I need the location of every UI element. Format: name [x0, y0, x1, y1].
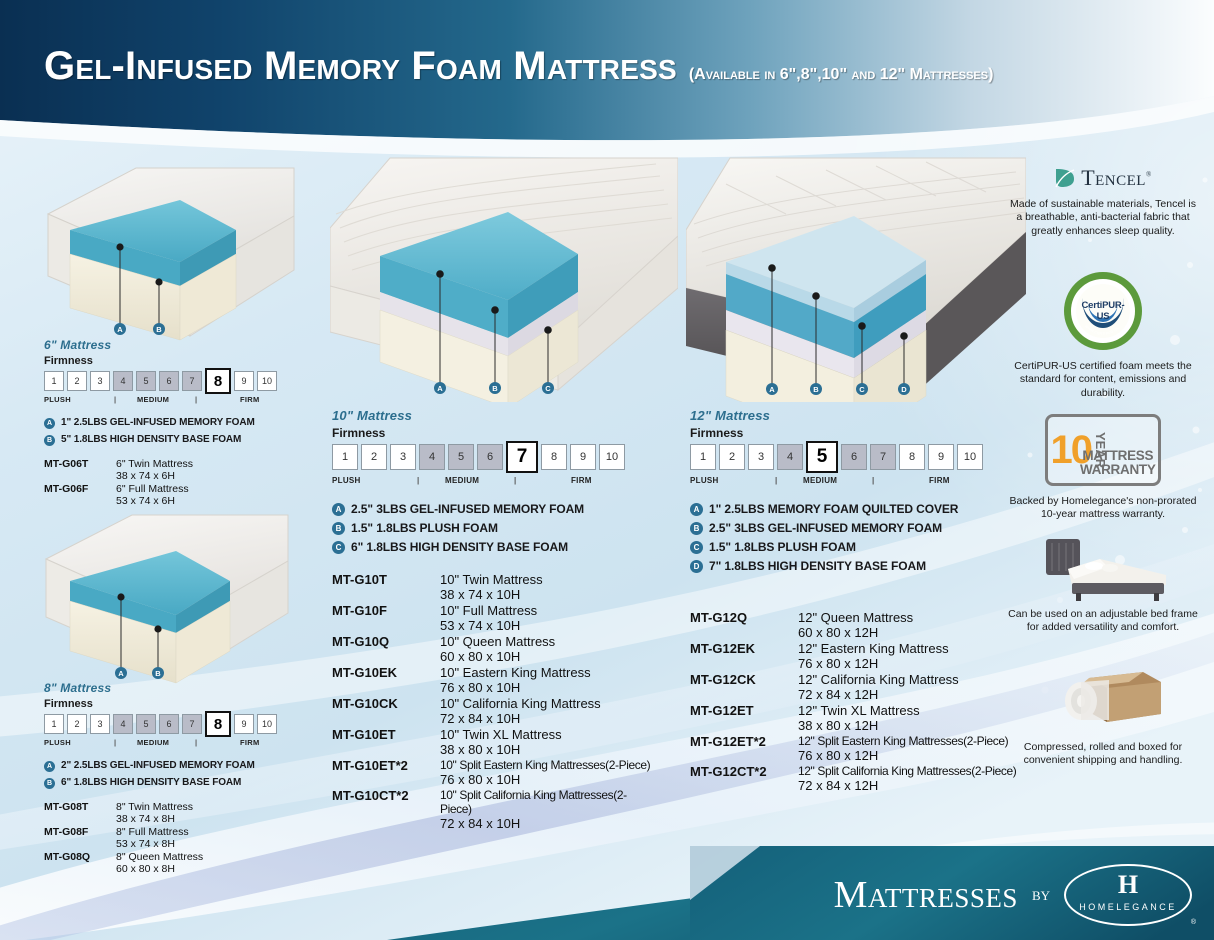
sku-row: MT-G10ET*210" Split Eastern King Mattres…	[332, 758, 652, 787]
page-title-main: Gel-Infused Memory Foam Mattress	[44, 44, 677, 88]
sku-dimensions: 53 x 74 x 10H	[440, 618, 537, 633]
sku-code: MT-G06F	[44, 483, 116, 495]
layer-row: C1.5" 1.8LBS PLUSH FOAM	[690, 540, 1010, 554]
sku-dimensions: 60 x 80 x 10H	[440, 649, 555, 664]
warranty-badge: 10 YEAR MATTRESS WARRANTY	[1045, 414, 1161, 486]
layer-badge-c: C	[690, 541, 703, 554]
sku-row: MT-G10T10" Twin Mattress38 x 74 x 10H	[332, 572, 652, 602]
sku-detail: 12" Split California King Mattresses(2-P…	[798, 764, 1016, 793]
sku-description: 12" Queen Mattress	[798, 610, 913, 625]
firmness-scale-12in[interactable]: 12345678910	[690, 444, 1010, 473]
certipur-badge: CertiPUR-US SUSTAINABLE CERTIFIED FLEXIB…	[1064, 272, 1142, 350]
callout-letter-b-6in: B	[153, 323, 165, 335]
spec-sheet-page: Gel-Infused Memory Foam Mattress(Availab…	[0, 0, 1214, 940]
layer-list-12in: A1" 2.5LBS MEMORY FOAM QUILTED COVERB2.5…	[690, 502, 1010, 573]
certipur-block: CertiPUR-US SUSTAINABLE CERTIFIED FLEXIB…	[1008, 272, 1198, 400]
sku-row: MT-G10ET10" Twin XL Mattress38 x 80 x 10…	[332, 727, 652, 757]
svg-text:WWW.CERTIPUR.US: WWW.CERTIPUR.US	[1084, 324, 1120, 336]
layer-text: 1.5" 1.8LBS PLUSH FOAM	[709, 540, 856, 554]
sku-dimensions: 72 x 84 x 12H	[798, 687, 959, 702]
sku-code: MT-G10CK	[332, 696, 440, 711]
firmness-cell-1[interactable]: 1	[44, 371, 64, 391]
sku-description: 10" Eastern King Mattress	[440, 665, 591, 680]
firmness-scale-8in[interactable]: 12345678910	[44, 714, 294, 737]
firmness-label-12in: Firmness	[690, 426, 1010, 440]
footer-by-word: by	[1032, 884, 1050, 906]
sku-dimensions: 38 x 80 x 12H	[798, 718, 920, 733]
firmness-cell-4[interactable]: 4	[777, 444, 803, 470]
sku-detail: 6" Full Mattress53 x 74 x 6H	[116, 483, 189, 507]
tencel-description: Made of sustainable materials, Tencel is…	[1008, 198, 1198, 238]
firmness-cell-2[interactable]: 2	[361, 444, 387, 470]
callout-letter-c-10in: C	[542, 382, 554, 394]
sku-description: 12" Eastern King Mattress	[798, 641, 949, 656]
callout-letter-a-10in: A	[434, 382, 446, 394]
firmness-scale-6in[interactable]: 12345678910	[44, 371, 294, 394]
certipur-ring-text: SUSTAINABLE CERTIFIED FLEXIBLE POLYURETH…	[1071, 279, 1135, 343]
tencel-wordmark: Tencel®	[1081, 165, 1152, 191]
firmness-label-6in: Firmness	[44, 355, 294, 367]
firmness-cell-2[interactable]: 2	[67, 371, 87, 391]
warranty-lines: MATTRESS WARRANTY	[1080, 449, 1156, 477]
sku-detail: 10" Twin Mattress38 x 74 x 10H	[440, 572, 543, 602]
homelegance-logo: H HOMELEGANCE ®	[1064, 864, 1192, 926]
homelegance-h-letter: H	[1118, 870, 1138, 900]
layer-row: B2.5" 3LBS GEL-INFUSED MEMORY FOAM	[690, 521, 1010, 535]
layer-row: B6" 1.8LBS HIGH DENSITY BASE FOAM	[44, 777, 294, 789]
firmness-cell-10[interactable]: 10	[257, 371, 277, 391]
layer-badge-b: B	[690, 522, 703, 535]
sku-detail: 12" Twin XL Mattress38 x 80 x 12H	[798, 703, 920, 733]
sku-detail: 6" Twin Mattress38 x 74 x 6H	[116, 458, 193, 482]
firmness-cell-3[interactable]: 3	[390, 444, 416, 470]
layer-row: D7" 1.8LBS HIGH DENSITY BASE FOAM	[690, 559, 1010, 573]
sku-description: 10" Twin XL Mattress	[440, 727, 562, 742]
firmness-cell-1[interactable]: 1	[690, 444, 716, 470]
warranty-block: 10 YEAR MATTRESS WARRANTY Backed by Home…	[1008, 414, 1198, 522]
layer-text: 2.5" 3LBS GEL-INFUSED MEMORY FOAM	[709, 521, 942, 535]
firmness-cell-5[interactable]: 5	[448, 444, 474, 470]
sku-dimensions: 38 x 74 x 6H	[116, 470, 193, 482]
firmness-cell-5[interactable]: 5	[806, 441, 838, 473]
firmness-cell-1[interactable]: 1	[44, 714, 64, 734]
layer-text: 6" 1.8LBS HIGH DENSITY BASE FOAM	[61, 777, 241, 788]
footer-brand: Mattresses by H HOMELEGANCE ®	[834, 864, 1192, 926]
adjustable-bed-image	[1028, 535, 1178, 601]
sku-dimensions: 60 x 80 x 12H	[798, 625, 913, 640]
svg-text:SUSTAINABLE CERTIFIED FLEXIB: SUSTAINABLE CERTIFIED FLEXIBLE POLYURETH…	[1071, 279, 1133, 310]
firmness-cell-7[interactable]: 7	[506, 441, 538, 473]
scale-medium-10in: MEDIUM	[445, 476, 479, 485]
sku-row: MT-G12EK12" Eastern King Mattress76 x 80…	[690, 641, 1020, 671]
firmness-cell-8[interactable]: 8	[205, 711, 231, 737]
sku-code: MT-G10EK	[332, 665, 440, 680]
firmness-cell-8[interactable]: 8	[205, 368, 231, 394]
layer-badge-d: D	[690, 560, 703, 573]
firmness-cell-9[interactable]: 9	[234, 714, 254, 734]
callout-letter-d-12in: D	[898, 383, 910, 395]
sku-description: 12" Split Eastern King Mattresses(2-Piec…	[798, 734, 1008, 748]
layer-row: B5" 1.8LBS HIGH DENSITY BASE FOAM	[44, 434, 294, 446]
scale-plush-8in: PLUSH	[44, 738, 71, 747]
firmness-cell-3[interactable]: 3	[90, 371, 110, 391]
sku-code: MT-G10ET*2	[332, 758, 440, 773]
firmness-cell-7[interactable]: 7	[870, 444, 896, 470]
layer-badge-a: A	[690, 503, 703, 516]
warranty-line2: WARRANTY	[1080, 463, 1156, 477]
layer-badge-b: B	[44, 778, 55, 789]
sku-detail: 12" Split Eastern King Mattresses(2-Piec…	[798, 734, 1008, 763]
sku-detail: 12" Queen Mattress60 x 80 x 12H	[798, 610, 913, 640]
firmness-cell-9[interactable]: 9	[928, 444, 954, 470]
layer-text: 2" 2.5LBS GEL-INFUSED MEMORY FOAM	[61, 760, 255, 771]
mattress-illustration-6in	[40, 158, 310, 344]
sku-code: MT-G12CK	[690, 672, 798, 687]
sku-description: 8" Full Mattress	[116, 826, 189, 838]
sku-detail: 8" Twin Mattress38 x 74 x 8H	[116, 801, 193, 825]
layer-row: A2" 2.5LBS GEL-INFUSED MEMORY FOAM	[44, 760, 294, 772]
sku-row: MT-G12ET12" Twin XL Mattress38 x 80 x 12…	[690, 703, 1020, 733]
sku-dimensions: 76 x 80 x 12H	[798, 748, 1008, 763]
scale-plush-10in: PLUSH	[332, 476, 361, 485]
certipur-description: CertiPUR-US certified foam meets the sta…	[1008, 360, 1198, 400]
firmness-scale-10in[interactable]: 12345678910	[332, 444, 652, 473]
sku-detail: 10" Full Mattress53 x 74 x 10H	[440, 603, 537, 633]
firmness-cell-6[interactable]: 6	[159, 714, 179, 734]
sku-code: MT-G10F	[332, 603, 440, 618]
sku-row: MT-G12Q12" Queen Mattress60 x 80 x 12H	[690, 610, 1020, 640]
sku-description: 10" Split Eastern King Mattresses(2-Piec…	[440, 758, 650, 772]
sku-code: MT-G10CT*2	[332, 788, 440, 803]
boxed-block: Compressed, rolled and boxed for conveni…	[1008, 668, 1198, 768]
page-header: Gel-Infused Memory Foam Mattress(Availab…	[0, 0, 1214, 128]
layer-row: A1" 2.5LBS GEL-INFUSED MEMORY FOAM	[44, 417, 294, 429]
firmness-cell-10[interactable]: 10	[599, 444, 625, 470]
layer-badge-b: B	[44, 435, 55, 446]
scale-plush-6in: PLUSH	[44, 395, 71, 404]
layer-badge-a: A	[44, 418, 55, 429]
sku-code: MT-G10ET	[332, 727, 440, 742]
scale-legend-8in: PLUSH | MEDIUM | FIRM	[44, 737, 294, 750]
sku-dimensions: 76 x 80 x 10H	[440, 772, 650, 787]
sku-code: MT-G10T	[332, 572, 440, 587]
adjustable-bed-description: Can be used on an adjustable bed frame f…	[1008, 608, 1198, 635]
scale-legend-12in: PLUSH | MEDIUM | FIRM	[690, 475, 1010, 488]
sku-code: MT-G12CT*2	[690, 764, 798, 779]
warranty-description: Backed by Homelegance's non-prorated 10-…	[1008, 495, 1198, 522]
sku-detail: 8" Full Mattress53 x 74 x 8H	[116, 826, 189, 850]
sku-row: MT-G06F6" Full Mattress53 x 74 x 6H	[44, 483, 294, 507]
section-6in: 6" Mattress Firmness 12345678910 PLUSH |…	[44, 338, 294, 508]
callout-letter-c-12in: C	[856, 383, 868, 395]
sku-detail: 8" Queen Mattress60 x 80 x 8H	[116, 851, 203, 875]
scale-firm-12in: FIRM	[929, 476, 950, 485]
layer-text: 2.5" 3LBS GEL-INFUSED MEMORY FOAM	[351, 502, 584, 516]
section-title-12in: 12" Mattress	[690, 408, 1010, 423]
sku-detail: 10" Split California King Mattresses(2-P…	[440, 788, 652, 831]
callout-letter-a-8in: A	[115, 667, 127, 679]
sku-row: MT-G08F8" Full Mattress53 x 74 x 8H	[44, 826, 294, 850]
sku-dimensions: 72 x 84 x 10H	[440, 711, 601, 726]
sku-code: MT-G12ET	[690, 703, 798, 718]
firmness-label-10in: Firmness	[332, 426, 652, 440]
sku-row: MT-G10CK10" California King Mattress72 x…	[332, 696, 652, 726]
scale-legend-6in: PLUSH | MEDIUM | FIRM	[44, 394, 294, 407]
sku-dimensions: 38 x 80 x 10H	[440, 742, 562, 757]
mattress-illustration-10in	[330, 150, 678, 402]
firmness-cell-4[interactable]: 4	[419, 444, 445, 470]
firmness-cell-6[interactable]: 6	[841, 444, 867, 470]
layer-badge-c: C	[332, 541, 345, 554]
sku-dimensions: 72 x 84 x 10H	[440, 816, 652, 831]
sku-list-10in: MT-G10T10" Twin Mattress38 x 74 x 10HMT-…	[332, 572, 652, 831]
homelegance-name: HOMELEGANCE	[1079, 902, 1177, 912]
sku-row: MT-G06T6" Twin Mattress38 x 74 x 6H	[44, 458, 294, 482]
sku-dimensions: 76 x 80 x 12H	[798, 656, 949, 671]
sku-dimensions: 60 x 80 x 8H	[116, 863, 203, 875]
firmness-cell-7[interactable]: 7	[182, 714, 202, 734]
layer-list-10in: A2.5" 3LBS GEL-INFUSED MEMORY FOAMB1.5" …	[332, 502, 652, 554]
leaf-icon	[1054, 167, 1076, 189]
firmness-cell-4[interactable]: 4	[113, 371, 133, 391]
sku-detail: 10" Eastern King Mattress76 x 80 x 10H	[440, 665, 591, 695]
callout-letter-b-8in: B	[152, 667, 164, 679]
layer-text: 1.5" 1.8LBS PLUSH FOAM	[351, 521, 498, 535]
sku-description: 10" Queen Mattress	[440, 634, 555, 649]
scale-medium-8in: MEDIUM	[137, 738, 169, 747]
layer-row: B1.5" 1.8LBS PLUSH FOAM	[332, 521, 652, 535]
sku-row: MT-G10EK10" Eastern King Mattress76 x 80…	[332, 665, 652, 695]
layer-text: 5" 1.8LBS HIGH DENSITY BASE FOAM	[61, 434, 241, 445]
adjustable-bed-block: Can be used on an adjustable bed frame f…	[1008, 535, 1198, 635]
firmness-cell-5[interactable]: 5	[136, 371, 156, 391]
callout-letter-b-12in: B	[810, 383, 822, 395]
sku-description: 10" California King Mattress	[440, 696, 601, 711]
scale-medium-6in: MEDIUM	[137, 395, 169, 404]
layer-badge-a: A	[44, 761, 55, 772]
firmness-cell-5[interactable]: 5	[136, 714, 156, 734]
tencel-block: Tencel® Made of sustainable materials, T…	[1008, 165, 1198, 238]
warranty-line1: MATTRESS	[1082, 449, 1153, 463]
sku-row: MT-G12CK12" California King Mattress72 x…	[690, 672, 1020, 702]
sku-row: MT-G12CT*212" Split California King Matt…	[690, 764, 1020, 793]
sku-description: 8" Twin Mattress	[116, 801, 193, 813]
page-subtitle: (Available in 6",8",10" and 12" Mattress…	[689, 66, 994, 83]
layer-row: A2.5" 3LBS GEL-INFUSED MEMORY FOAM	[332, 502, 652, 516]
section-title-8in: 8" Mattress	[44, 681, 294, 695]
sku-code: MT-G10Q	[332, 634, 440, 649]
firmness-cell-3[interactable]: 3	[748, 444, 774, 470]
boxed-mattress-image	[1033, 668, 1173, 734]
sku-dimensions: 38 x 74 x 10H	[440, 587, 543, 602]
firmness-cell-8[interactable]: 8	[899, 444, 925, 470]
firmness-cell-10[interactable]: 10	[957, 444, 983, 470]
firmness-cell-8[interactable]: 8	[541, 444, 567, 470]
section-title-6in: 6" Mattress	[44, 338, 294, 352]
tencel-registered: ®	[1146, 171, 1152, 179]
sku-dimensions: 38 x 74 x 8H	[116, 813, 193, 825]
sku-code: MT-G08Q	[44, 851, 116, 863]
sku-detail: 10" Split Eastern King Mattresses(2-Piec…	[440, 758, 650, 787]
sku-description: 12" Split California King Mattresses(2-P…	[798, 764, 1016, 778]
section-10in: 10" Mattress Firmness 12345678910 PLUSH …	[332, 408, 652, 832]
sku-description: 12" Twin XL Mattress	[798, 703, 920, 718]
scale-legend-10in: PLUSH | MEDIUM | FIRM	[332, 475, 652, 488]
sku-list-6in: MT-G06T6" Twin Mattress38 x 74 x 6HMT-G0…	[44, 458, 294, 507]
section-8in: 8" Mattress Firmness 12345678910 PLUSH |…	[44, 681, 294, 876]
layer-badge-b: B	[332, 522, 345, 535]
firmness-cell-6[interactable]: 6	[477, 444, 503, 470]
callout-letter-a-6in: A	[114, 323, 126, 335]
callout-letter-a-12in: A	[766, 383, 778, 395]
firmness-cell-9[interactable]: 9	[570, 444, 596, 470]
homelegance-registered: ®	[1191, 919, 1196, 926]
sku-dimensions: 53 x 74 x 8H	[116, 838, 189, 850]
sku-row: MT-G10Q10" Queen Mattress60 x 80 x 10H	[332, 634, 652, 664]
sku-list-8in: MT-G08T8" Twin Mattress38 x 74 x 8HMT-G0…	[44, 801, 294, 875]
layer-row: C6" 1.8LBS HIGH DENSITY BASE FOAM	[332, 540, 652, 554]
sku-row: MT-G10CT*210" Split California King Matt…	[332, 788, 652, 831]
page-title: Gel-Infused Memory Foam Mattress(Availab…	[44, 44, 993, 89]
sku-code: MT-G12Q	[690, 610, 798, 625]
section-title-10in: 10" Mattress	[332, 408, 652, 423]
firmness-cell-3[interactable]: 3	[90, 714, 110, 734]
layer-text: 1" 2.5LBS GEL-INFUSED MEMORY FOAM	[61, 417, 255, 428]
sku-row: MT-G10F10" Full Mattress53 x 74 x 10H	[332, 603, 652, 633]
scale-firm-8in: FIRM	[240, 738, 260, 747]
sku-code: MT-G08F	[44, 826, 116, 838]
sku-detail: 12" Eastern King Mattress76 x 80 x 12H	[798, 641, 949, 671]
scale-firm-6in: FIRM	[240, 395, 260, 404]
section-12in: 12" Mattress Firmness 12345678910 PLUSH …	[690, 408, 1010, 578]
firmness-cell-6[interactable]: 6	[159, 371, 179, 391]
sku-description: 12" California King Mattress	[798, 672, 959, 687]
firmness-cell-4[interactable]: 4	[113, 714, 133, 734]
sku-detail: 10" California King Mattress72 x 84 x 10…	[440, 696, 601, 726]
scale-plush-12in: PLUSH	[690, 476, 719, 485]
sku-detail: 12" California King Mattress72 x 84 x 12…	[798, 672, 959, 702]
tencel-logo: Tencel®	[1008, 165, 1198, 191]
mattress-illustration-8in	[38, 505, 300, 687]
sku-dimensions: 72 x 84 x 12H	[798, 778, 1016, 793]
sku-code: MT-G06T	[44, 458, 116, 470]
sku-dimensions: 76 x 80 x 10H	[440, 680, 591, 695]
sku-row: MT-G08T8" Twin Mattress38 x 74 x 8H	[44, 801, 294, 825]
layer-text: 6" 1.8LBS HIGH DENSITY BASE FOAM	[351, 540, 568, 554]
sku-description: 6" Full Mattress	[116, 483, 189, 495]
sku-description: 8" Queen Mattress	[116, 851, 203, 863]
sku-detail: 10" Queen Mattress60 x 80 x 10H	[440, 634, 555, 664]
layer-badge-a: A	[332, 503, 345, 516]
sku-row: MT-G08Q8" Queen Mattress60 x 80 x 8H	[44, 851, 294, 875]
sku-row: MT-G12ET*212" Split Eastern King Mattres…	[690, 734, 1020, 763]
footer-mattresses-word: Mattresses	[834, 873, 1018, 917]
layer-list-8in: A2" 2.5LBS GEL-INFUSED MEMORY FOAMB6" 1.…	[44, 760, 294, 789]
sku-description: 6" Twin Mattress	[116, 458, 193, 470]
layer-list-6in: A1" 2.5LBS GEL-INFUSED MEMORY FOAMB5" 1.…	[44, 417, 294, 446]
firmness-cell-7[interactable]: 7	[182, 371, 202, 391]
layer-row: A1" 2.5LBS MEMORY FOAM QUILTED COVER	[690, 502, 1010, 516]
firmness-cell-9[interactable]: 9	[234, 371, 254, 391]
sku-code: MT-G12ET*2	[690, 734, 798, 749]
sku-description: 10" Full Mattress	[440, 603, 537, 618]
sku-detail: 10" Twin XL Mattress38 x 80 x 10H	[440, 727, 562, 757]
sku-description: 10" Twin Mattress	[440, 572, 543, 587]
mattress-illustration-12in	[686, 150, 1026, 402]
firmness-cell-2[interactable]: 2	[67, 714, 87, 734]
firmness-cell-2[interactable]: 2	[719, 444, 745, 470]
sku-code: MT-G12EK	[690, 641, 798, 656]
layer-text: 1" 2.5LBS MEMORY FOAM QUILTED COVER	[709, 502, 958, 516]
firmness-cell-1[interactable]: 1	[332, 444, 358, 470]
scale-medium-12in: MEDIUM	[803, 476, 837, 485]
sku-list-12in: MT-G12Q12" Queen Mattress60 x 80 x 12HMT…	[690, 610, 1020, 794]
callout-letter-b-10in: B	[489, 382, 501, 394]
sku-code: MT-G08T	[44, 801, 116, 813]
layer-text: 7" 1.8LBS HIGH DENSITY BASE FOAM	[709, 559, 926, 573]
boxed-description: Compressed, rolled and boxed for conveni…	[1008, 741, 1198, 768]
firmness-cell-10[interactable]: 10	[257, 714, 277, 734]
scale-firm-10in: FIRM	[571, 476, 592, 485]
sku-description: 10" Split California King Mattresses(2-P…	[440, 788, 652, 816]
firmness-label-8in: Firmness	[44, 698, 294, 710]
